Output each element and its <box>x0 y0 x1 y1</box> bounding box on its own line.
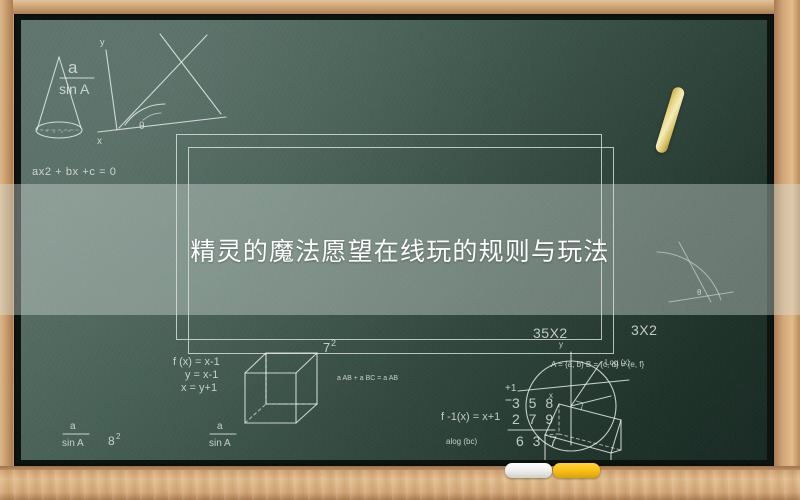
chalk-stick-yellow-icon <box>553 463 600 478</box>
chalk-frac2-num: a <box>70 421 76 432</box>
chalk-fraction-denominator: sin A <box>59 81 90 97</box>
chalk-frac2-den: sin A <box>62 438 84 449</box>
chalk-difference: 6 3 7 <box>516 433 560 449</box>
frame-bevel-top <box>0 0 800 14</box>
chalk-minuend: 3 5 8 <box>512 395 556 411</box>
chalk-inverse-function: f -1(x) = x+1 <box>441 411 500 423</box>
chalk-ledge <box>0 470 800 500</box>
chalk-axis-y-label: y <box>100 37 105 47</box>
page-title: 精灵的魔法愿望在线玩的规则与玩法 <box>0 184 800 315</box>
chalk-frac3-den: sin A <box>209 438 231 449</box>
chalk-multiply-2: 3X2 <box>631 322 657 338</box>
chalk-fraction-numerator: a <box>68 58 78 77</box>
chalk-eight: 8 <box>108 434 115 448</box>
chalk-axis-x-label: x <box>97 136 102 147</box>
chalk-fx-line3: x = y+1 <box>181 382 217 394</box>
chalk-quadratic-equation: ax2 + bx +c = 0 <box>32 166 117 178</box>
chalk-subtrahend: 2 7 9 <box>512 411 556 427</box>
chalk-frac3-num: a <box>217 421 223 432</box>
chalk-log-expression: alog (bc) <box>446 437 477 446</box>
chalk-angle-label: θ <box>139 121 145 132</box>
chalk-carry: +1 <box>505 383 517 394</box>
chalkboard-scene: a sin A y x θ ax2 + bx +c = 0 f (x) = x-… <box>0 0 800 500</box>
chalk-fx-line1: f (x) = x-1 <box>173 356 220 368</box>
chalk-eight-exponent: 2 <box>116 432 121 441</box>
chalk-fx-line2: y = x-1 <box>185 369 218 381</box>
chalk-small-equation: a AB + a BC = a AB <box>337 375 398 382</box>
chalk-stick-white-icon <box>505 463 552 478</box>
